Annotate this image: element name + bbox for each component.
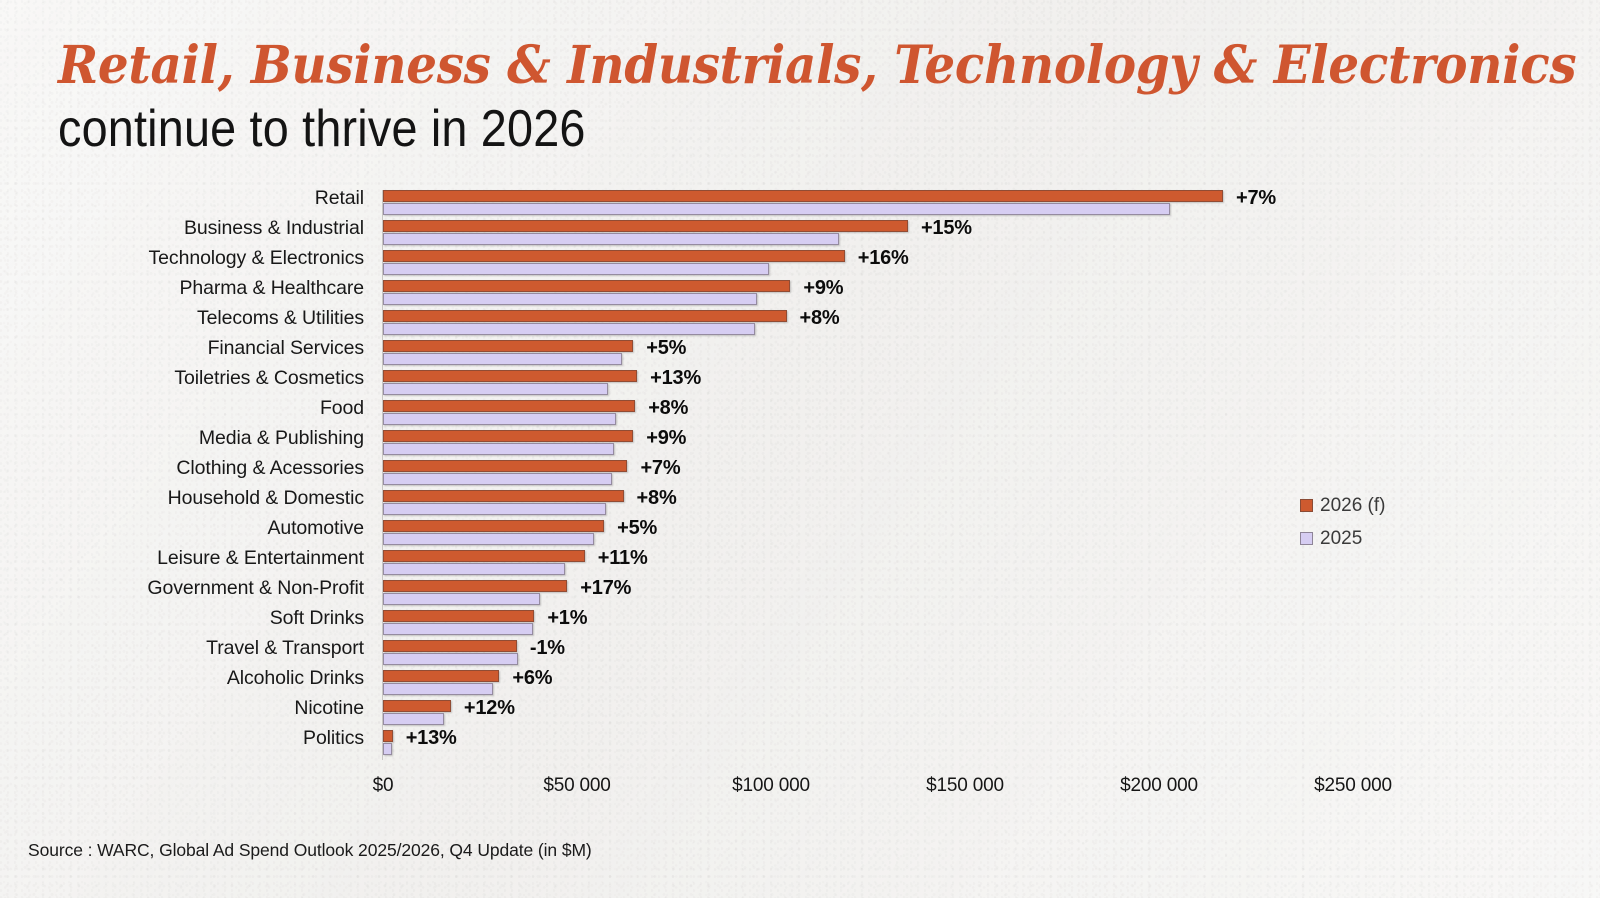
growth-label: +13%	[650, 367, 701, 390]
bar-2025	[383, 413, 616, 425]
bar-2026	[383, 730, 393, 742]
category-label: Automotive	[267, 517, 364, 540]
bar-2025	[383, 503, 606, 515]
bar-2026	[383, 310, 787, 322]
bar-2025	[383, 743, 392, 755]
growth-label: +15%	[921, 217, 972, 240]
category-label: Media & Publishing	[199, 427, 364, 450]
x-axis: $0$50 000$100 000$150 000$200 000$250 00…	[0, 775, 1600, 805]
growth-label: +8%	[648, 397, 688, 420]
bar-2026	[383, 490, 624, 502]
category-label: Clothing & Acessories	[176, 457, 364, 480]
bar-2025	[383, 353, 622, 365]
bar-2026	[383, 580, 567, 592]
bar-2025	[383, 203, 1170, 215]
bar-2026	[383, 460, 627, 472]
growth-label: +7%	[1236, 187, 1276, 210]
growth-label: +11%	[598, 547, 648, 570]
bar-2026	[383, 550, 585, 562]
growth-label: +17%	[580, 577, 631, 600]
x-axis-tick-label: $0	[373, 775, 394, 797]
bar-2025	[383, 323, 755, 335]
category-label: Travel & Transport	[206, 637, 364, 660]
bar-2026	[383, 280, 790, 292]
category-label: Toiletries & Cosmetics	[174, 367, 364, 390]
bar-2026	[383, 670, 499, 682]
bar-2026	[383, 190, 1223, 202]
bar-2025	[383, 443, 614, 455]
growth-label: +13%	[406, 727, 457, 750]
bar-2026	[383, 610, 534, 622]
bar-2026	[383, 640, 517, 652]
bar-2025	[383, 263, 769, 275]
bar-2025	[383, 623, 533, 635]
bar-2026	[383, 340, 633, 352]
bar-2026	[383, 400, 635, 412]
category-label: Household & Domestic	[168, 487, 364, 510]
legend-swatch-icon	[1300, 532, 1313, 545]
category-label: Pharma & Healthcare	[179, 277, 364, 300]
growth-label: +1%	[547, 607, 587, 630]
title-line-accent: Retail, Business & Industrials, Technolo…	[58, 38, 1434, 94]
x-axis-tick-label: $250 000	[1314, 775, 1392, 797]
category-label: Leisure & Entertainment	[157, 547, 364, 570]
x-axis-tick-label: $200 000	[1120, 775, 1198, 797]
bar-chart	[0, 186, 1600, 786]
title-line-secondary: continue to thrive in 2026	[58, 100, 1390, 158]
bar-2025	[383, 713, 444, 725]
source-note: Source : WARC, Global Ad Spend Outlook 2…	[28, 840, 592, 861]
category-label: Business & Industrial	[184, 217, 364, 240]
bar-2025	[383, 293, 757, 305]
category-label: Food	[320, 397, 364, 420]
bar-2026	[383, 700, 451, 712]
legend-label: 2025	[1320, 528, 1362, 550]
growth-label: +5%	[646, 337, 686, 360]
growth-label: +8%	[637, 487, 677, 510]
category-label: Nicotine	[294, 697, 364, 720]
bar-2026	[383, 370, 637, 382]
growth-label: +12%	[464, 697, 515, 720]
category-label: Soft Drinks	[270, 607, 364, 630]
bar-2025	[383, 383, 608, 395]
category-label: Retail	[315, 187, 364, 210]
x-axis-tick-label: $150 000	[926, 775, 1004, 797]
bar-2026	[383, 520, 604, 532]
growth-label: +8%	[800, 307, 840, 330]
bar-2025	[383, 563, 565, 575]
growth-label: -1%	[530, 637, 565, 660]
bar-2025	[383, 533, 594, 545]
bar-2026	[383, 430, 633, 442]
legend-item[interactable]: 2025	[1300, 522, 1385, 555]
bar-2026	[383, 220, 908, 232]
bar-2025	[383, 683, 493, 695]
bar-2025	[383, 473, 612, 485]
chart-legend: 2026 (f)2025	[1300, 489, 1385, 555]
growth-label: +9%	[803, 277, 843, 300]
page-title: Retail, Business & Industrials, Technolo…	[58, 38, 1538, 158]
bar-2025	[383, 233, 839, 245]
legend-swatch-icon	[1300, 499, 1313, 512]
bar-2025	[383, 593, 540, 605]
growth-label: +6%	[512, 667, 552, 690]
category-label: Telecoms & Utilities	[197, 307, 364, 330]
category-label: Government & Non-Profit	[147, 577, 364, 600]
category-label: Technology & Electronics	[149, 247, 364, 270]
category-label: Alcoholic Drinks	[227, 667, 364, 690]
legend-label: 2026 (f)	[1320, 495, 1385, 517]
growth-label: +16%	[858, 247, 909, 270]
bar-2026	[383, 250, 845, 262]
x-axis-tick-label: $100 000	[732, 775, 810, 797]
growth-label: +9%	[646, 427, 686, 450]
category-label: Politics	[303, 727, 364, 750]
growth-label: +5%	[617, 517, 657, 540]
growth-label: +7%	[640, 457, 680, 480]
bar-2025	[383, 653, 518, 665]
category-label: Financial Services	[208, 337, 364, 360]
legend-item[interactable]: 2026 (f)	[1300, 489, 1385, 522]
x-axis-tick-label: $50 000	[543, 775, 610, 797]
